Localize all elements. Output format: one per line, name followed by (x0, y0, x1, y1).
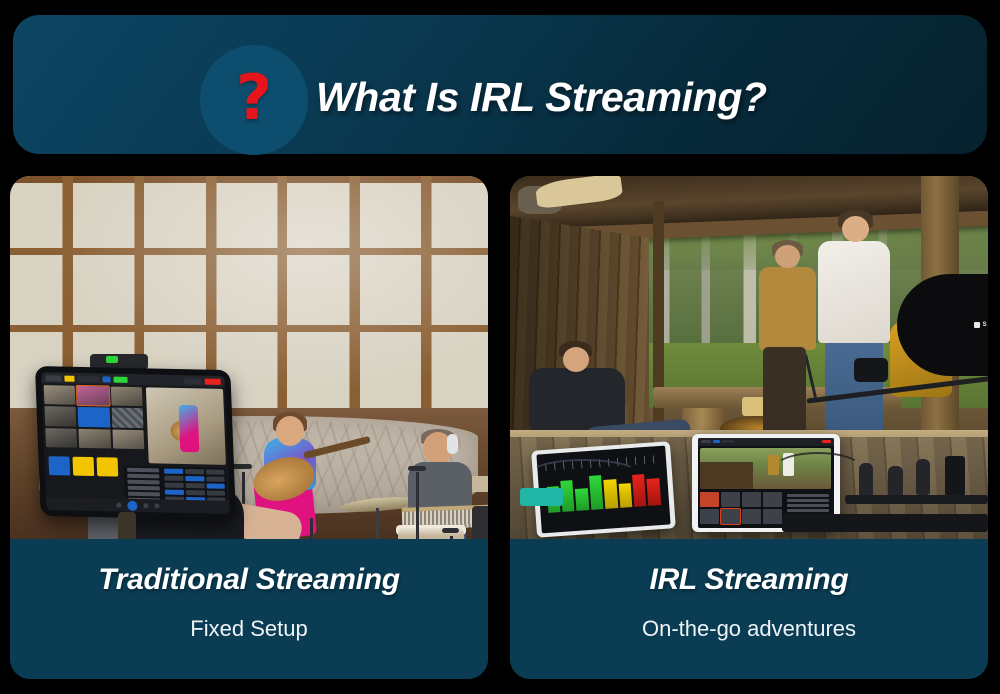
bottom-bar-dot[interactable] (116, 503, 121, 508)
photo-irl-outdoor: SENNHEISER (510, 176, 988, 539)
card-subtitle: On-the-go adventures (642, 616, 856, 642)
person-seated-head (563, 347, 590, 372)
multiview-tile (44, 385, 76, 405)
cable-loop-1 (773, 452, 863, 486)
settings-list-item[interactable] (127, 492, 160, 497)
side-list-item[interactable] (787, 509, 829, 512)
program-shelter (700, 462, 752, 489)
cable-loop-2 (529, 459, 639, 489)
mic-stand-3 (416, 472, 419, 539)
switcher-pad[interactable] (763, 492, 782, 507)
infographic-page: ? What Is IRL Streaming? (0, 0, 1000, 694)
mic-stand-2 (310, 518, 313, 539)
card-title: IRL Streaming (650, 563, 849, 597)
page-title: What Is IRL Streaming? (316, 74, 767, 121)
microphone-1 (232, 464, 252, 469)
switcher-pad[interactable] (721, 509, 740, 524)
person-seated-torso (529, 368, 625, 430)
switcher-pad[interactable] (72, 456, 94, 475)
settings-list-item[interactable] (126, 468, 159, 473)
side-list-item[interactable] (787, 499, 829, 502)
settings-row[interactable] (164, 469, 224, 475)
toolbar-chip (77, 375, 99, 381)
switcher-pad[interactable] (721, 492, 740, 507)
question-mark-icon: ? (200, 45, 308, 155)
microphone-3 (408, 466, 426, 471)
photo-traditional-studio (10, 176, 488, 539)
toolbar-chip (64, 375, 74, 381)
microphone-4 (442, 528, 459, 533)
switcher-pad-grid[interactable] (700, 492, 782, 524)
settings-row[interactable] (165, 476, 225, 482)
program-preview (146, 387, 226, 465)
switcher-pad[interactable] (763, 509, 782, 524)
multiview-tile (112, 429, 144, 449)
record-chip (205, 378, 221, 384)
drum-kit-case (472, 506, 488, 539)
caption-irl: IRL Streaming On-the-go adventures (510, 539, 988, 679)
multiview-tile (111, 387, 143, 407)
multiview-tile (78, 407, 110, 427)
settings-row[interactable] (165, 483, 225, 489)
card-title: Traditional Streaming (98, 563, 400, 597)
drummer-headphones (447, 434, 458, 454)
settings-row[interactable] (165, 490, 225, 496)
mic-rail (845, 495, 988, 504)
multiview-grid (42, 383, 147, 451)
sennheiser-reflector-flag: SENNHEISER (897, 274, 988, 376)
person-tan-jacket-legs (763, 347, 806, 434)
camera-body (945, 456, 965, 496)
switcher-pad[interactable] (742, 509, 761, 524)
tablet-mount-arm (118, 512, 136, 539)
settings-list-item[interactable] (127, 474, 160, 479)
card-irl-streaming[interactable]: SENNHEISER (510, 176, 988, 679)
bottom-bar-dot[interactable] (154, 503, 159, 508)
multiview-tile (45, 406, 77, 426)
card-subtitle: Fixed Setup (190, 616, 307, 642)
sennheiser-brand-text: SENNHEISER (983, 322, 988, 328)
toolbar-chip (45, 375, 61, 381)
bottom-bar-record-button[interactable] (127, 500, 137, 510)
side-list-item[interactable] (787, 494, 829, 497)
multiview-tile (112, 408, 144, 428)
program-performer (179, 405, 199, 452)
caption-traditional: Traditional Streaming Fixed Setup (10, 539, 488, 679)
person-white-shirt-torso (818, 241, 890, 343)
microphone-2 (888, 466, 903, 498)
boom-arm-head (854, 358, 888, 382)
multiview-tile (45, 428, 77, 448)
switcher-pad[interactable] (742, 492, 761, 507)
multiview-tile (79, 428, 111, 448)
side-list-item[interactable] (787, 504, 829, 507)
toolbar-chip (184, 378, 202, 384)
cymbal-stand (376, 508, 379, 539)
settings-list-item[interactable] (127, 480, 160, 485)
toolbar-chip (113, 376, 127, 382)
switcher-toolbar (698, 438, 834, 446)
camera-tally-light (106, 356, 118, 363)
guitarist-head (276, 416, 304, 446)
mic-stand-base-rail (782, 514, 988, 532)
switcher-pad[interactable] (700, 492, 719, 507)
switcher-bottom-bar[interactable] (46, 497, 230, 514)
person-white-shirt-head (842, 216, 869, 242)
settings-list-item[interactable] (127, 486, 160, 491)
mic-stand-4 (450, 536, 453, 539)
studio-scene (10, 176, 488, 539)
outdoor-scene: SENNHEISER (510, 176, 988, 539)
switcher-screen (41, 372, 230, 514)
header-card: ? What Is IRL Streaming? (13, 15, 987, 154)
sennheiser-logo-icon (974, 322, 980, 328)
switcher-pad[interactable] (700, 509, 719, 524)
switcher-pad[interactable] (96, 457, 118, 476)
toolbar-chip (102, 376, 110, 382)
person-tan-jacket-torso (759, 267, 816, 350)
sticker-tag (520, 488, 563, 506)
question-mark-glyph: ? (236, 67, 272, 129)
microphone-3 (916, 459, 930, 495)
video-switcher-tablet[interactable] (35, 366, 236, 520)
switcher-pad[interactable] (48, 456, 70, 475)
card-traditional-streaming[interactable]: Traditional Streaming Fixed Setup (10, 176, 488, 679)
bottom-bar-dot[interactable] (143, 503, 148, 508)
multiview-tile (77, 386, 109, 406)
